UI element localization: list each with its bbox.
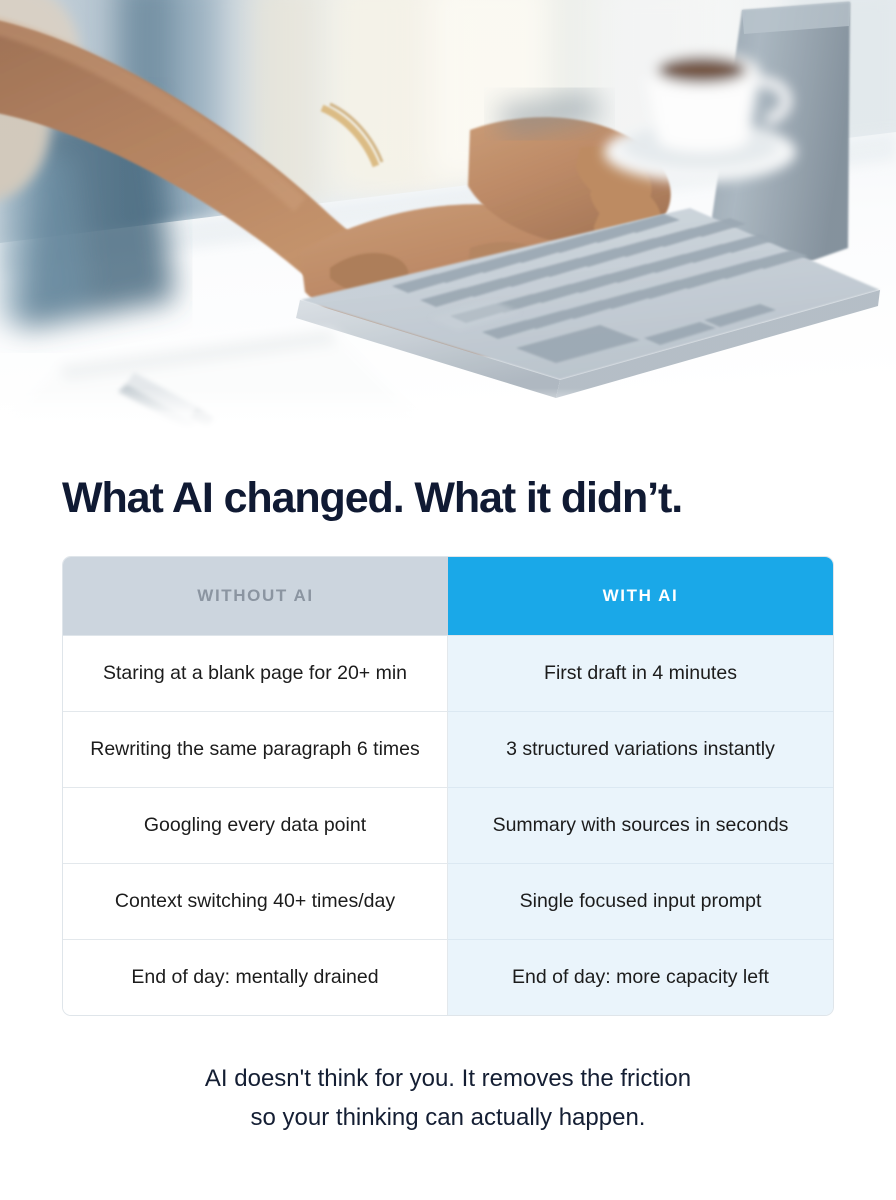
infographic-page: What AI changed. What it didn’t. WITHOUT… xyxy=(0,0,896,1200)
cell-without-ai: Staring at a blank page for 20+ min xyxy=(63,635,448,711)
table-row: Staring at a blank page for 20+ min Firs… xyxy=(63,635,833,711)
cell-with-ai: Summary with sources in seconds xyxy=(448,787,833,863)
content-section: What AI changed. What it didn’t. WITHOUT… xyxy=(0,430,896,1200)
page-title: What AI changed. What it didn’t. xyxy=(62,474,834,522)
table-header: WITHOUT AI WITH AI xyxy=(63,557,833,635)
cell-without-ai: Googling every data point xyxy=(63,787,448,863)
cell-with-ai: First draft in 4 minutes xyxy=(448,635,833,711)
cell-with-ai: 3 structured variations instantly xyxy=(448,711,833,787)
table-row: Rewriting the same paragraph 6 times 3 s… xyxy=(63,711,833,787)
footnote-line-2: so your thinking can actually happen. xyxy=(62,1099,834,1138)
cell-without-ai: End of day: mentally drained xyxy=(63,939,448,1015)
comparison-table: WITHOUT AI WITH AI Staring at a blank pa… xyxy=(62,556,834,1016)
table-row: End of day: mentally drained End of day:… xyxy=(63,939,833,1015)
table-body: Staring at a blank page for 20+ min Firs… xyxy=(63,635,833,1015)
column-header-without-ai: WITHOUT AI xyxy=(63,557,448,635)
table-header-row: WITHOUT AI WITH AI xyxy=(63,557,833,635)
laptop-typing-photo xyxy=(0,0,896,430)
footnote-line-1: AI doesn't think for you. It removes the… xyxy=(62,1060,834,1099)
footnote: AI doesn't think for you. It removes the… xyxy=(62,1060,834,1138)
cell-without-ai: Context switching 40+ times/day xyxy=(63,863,448,939)
cell-without-ai: Rewriting the same paragraph 6 times xyxy=(63,711,448,787)
table-row: Googling every data point Summary with s… xyxy=(63,787,833,863)
table-row: Context switching 40+ times/day Single f… xyxy=(63,863,833,939)
cell-with-ai: Single focused input prompt xyxy=(448,863,833,939)
hero-photo-container xyxy=(0,0,896,430)
column-header-with-ai: WITH AI xyxy=(448,557,833,635)
cell-with-ai: End of day: more capacity left xyxy=(448,939,833,1015)
